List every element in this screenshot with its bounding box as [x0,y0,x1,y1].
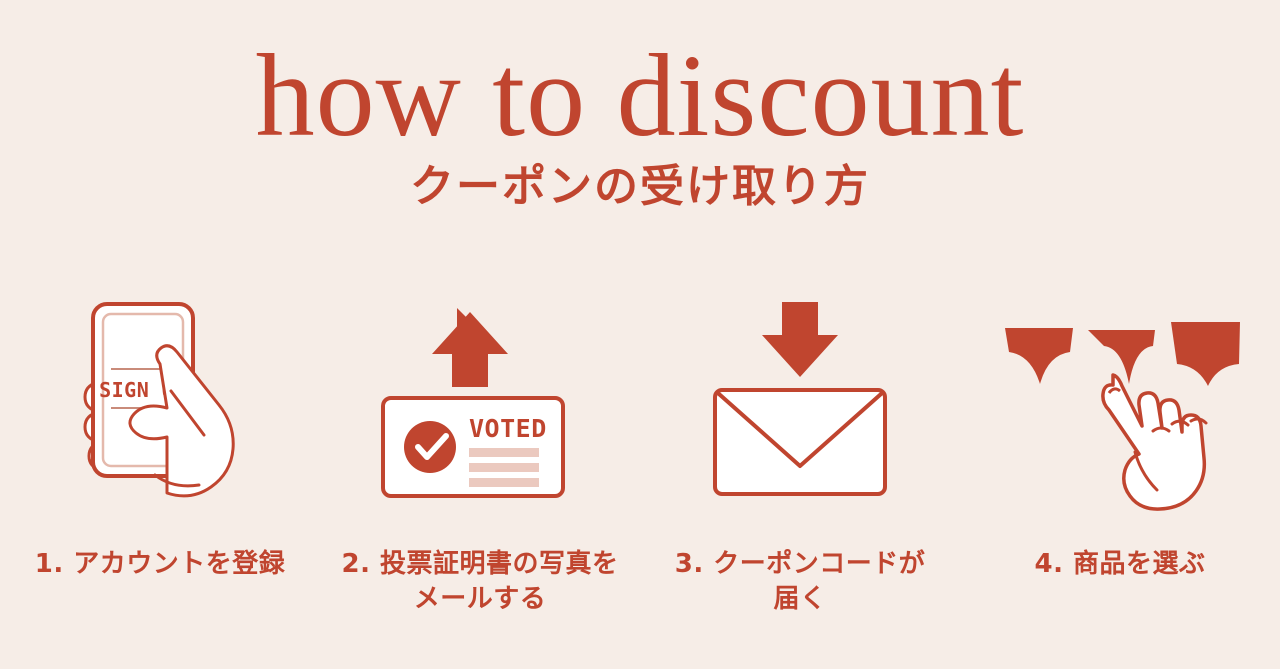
infographic-page: how to discount クーポンの受け取り方 S [0,0,1280,669]
download-arrow-icon [762,302,838,377]
steps-row: SIGN UP 1. アカウントを登録 [0,285,1280,617]
step-1-artwork: SIGN UP [0,285,320,500]
voted-card-label: VOTED [469,414,547,443]
step-2-artwork: VOTED [320,285,640,500]
underwear-bikini-icon [1005,328,1073,384]
step-2-caption-line2: メールする [414,584,547,614]
header: how to discount クーポンの受け取り方 [0,0,1280,212]
underwear-thong-icon [1088,330,1155,384]
hand-holding-phone-signup-icon: SIGN UP [55,290,265,500]
underwear-selection-hand-icon [995,290,1245,500]
step-3-artwork [640,285,960,500]
step-4-caption: 4. 商品を選ぶ [970,547,1270,582]
step-3-caption: 3. クーポンコードが 届く [650,547,950,617]
step-3: 3. クーポンコードが 届く [640,285,960,617]
step-3-caption-line1: 3. クーポンコードが [675,549,926,579]
step-2-caption: 2. 投票証明書の写真を メールする [330,547,630,617]
step-1-caption: 1. アカウントを登録 [10,547,310,582]
voted-card-upload-icon: VOTED [375,290,585,500]
underwear-boyshort-icon [1171,322,1240,386]
step-4-artwork [960,285,1280,500]
step-1: SIGN UP 1. アカウントを登録 [0,285,320,582]
step-3-caption-line2: 届く [773,584,826,614]
step-4: 4. 商品を選ぶ [960,285,1280,582]
page-title: how to discount [0,32,1280,159]
check-badge-icon [404,421,456,473]
page-subtitle: クーポンの受け取り方 [0,163,1280,211]
envelope-download-icon [695,290,905,500]
step-2-caption-line1: 2. 投票証明書の写真を [341,549,618,579]
step-2: VOTED 2. 投票証明書の写真を メールする [320,285,640,617]
